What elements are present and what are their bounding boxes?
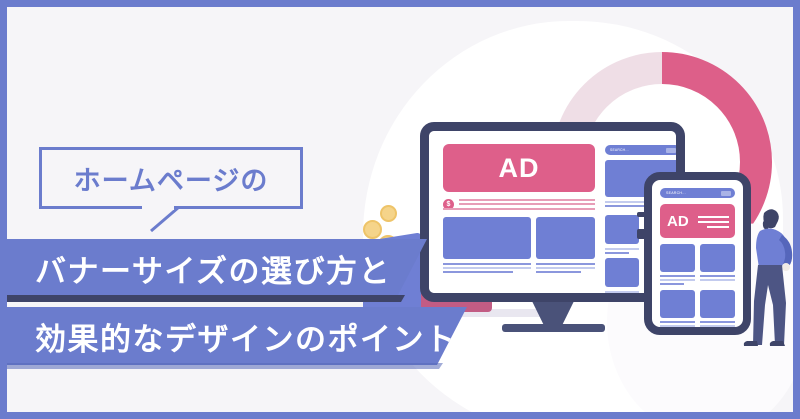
monitor-ad-banner[interactable]: AD [443, 144, 595, 192]
monitor-stand-base [502, 324, 605, 332]
bubble-text: ホームページの [42, 150, 300, 206]
gold-coin [380, 205, 397, 222]
sidebar-tile[interactable] [605, 215, 639, 244]
text-line [660, 279, 695, 281]
phone-content-tile[interactable] [700, 244, 735, 272]
text-line [459, 199, 595, 201]
speech-bubble-box: ホームページの [39, 147, 303, 209]
content-block[interactable] [443, 217, 531, 259]
monitor-search-bar[interactable]: SEARCH... [605, 145, 676, 155]
sidebar-tile[interactable] [605, 258, 639, 287]
gold-coin [363, 220, 382, 239]
text-line [700, 321, 735, 323]
text-line [700, 279, 735, 281]
text-line [660, 321, 695, 323]
phone-content-tile[interactable] [660, 244, 695, 272]
headline-band-2: 効果的なデザインのポイント [7, 307, 467, 365]
banner-image: AD $ SEARCH... [0, 0, 800, 419]
phone-search-bar[interactable]: SEARCH... [660, 188, 735, 198]
smartphone: SEARCH... AD [644, 172, 751, 335]
content-block[interactable] [536, 217, 595, 259]
text-line [443, 263, 531, 265]
text-line [536, 271, 581, 273]
text-line [605, 291, 639, 293]
phone-ad-label: AD [667, 213, 689, 230]
headline-band-2-shadow [7, 363, 443, 369]
text-line [536, 263, 595, 265]
text-line [660, 325, 695, 327]
monitor-ad-label: AD [499, 153, 540, 184]
search-icon[interactable] [721, 191, 731, 196]
ad-detail-line [698, 221, 729, 223]
bubble-tail-mask [142, 205, 174, 210]
inner-panel: AD $ SEARCH... [7, 7, 793, 412]
headline-band-1-shadow [7, 295, 405, 302]
text-line [459, 203, 595, 205]
text-line [700, 275, 735, 277]
standing-person [742, 199, 793, 349]
headline-band-1: バナーサイズの選び方と [7, 239, 427, 297]
text-line [660, 283, 684, 285]
phone-screen: SEARCH... AD [652, 180, 743, 327]
text-line [443, 208, 595, 210]
phone-ad-banner[interactable]: AD [660, 204, 735, 238]
text-line [536, 267, 595, 269]
text-line [443, 267, 531, 269]
phone-search-placeholder: SEARCH... [666, 190, 686, 196]
phone-content-tile[interactable] [660, 290, 695, 318]
ad-detail-line [707, 226, 729, 228]
text-line [605, 248, 639, 250]
text-line [443, 271, 513, 273]
monitor-search-placeholder: SEARCH... [610, 147, 629, 153]
headline-line-2: 効果的なデザインのポイント [7, 314, 458, 359]
ad-detail-line [698, 216, 729, 218]
search-icon[interactable] [666, 148, 676, 153]
text-line [660, 275, 695, 277]
phone-content-tile[interactable] [700, 290, 735, 318]
text-line [605, 252, 629, 254]
text-line [700, 325, 735, 327]
headline-line-1: バナーサイズの選び方と [7, 246, 391, 291]
